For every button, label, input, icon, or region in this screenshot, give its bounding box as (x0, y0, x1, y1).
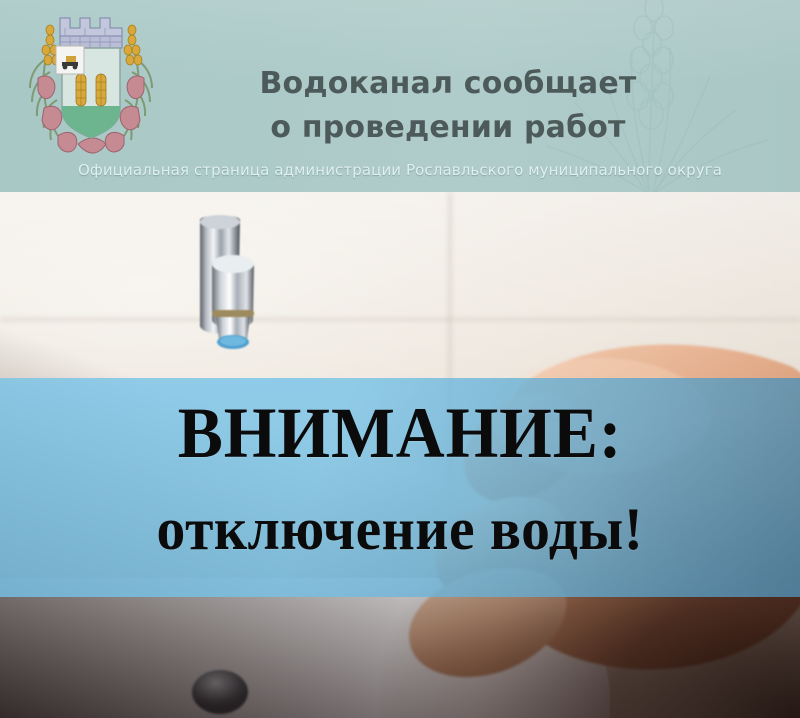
coat-of-arms-icon (14, 6, 168, 172)
page-title-line-2: о проведении работ (168, 106, 728, 150)
alert-headline-line-2: отключение воды! (16, 490, 784, 568)
poster: Водоканал сообщает о проведении работ Оф… (0, 0, 800, 718)
page-subtitle: Официальная страница администрации Росла… (0, 160, 800, 180)
alert-headline-line-1: ВНИМАНИЕ: (24, 390, 776, 476)
alert-headline: ВНИМАНИЕ: отключение воды! (0, 390, 800, 568)
page-title-line-1: Водоканал сообщает (168, 62, 728, 106)
page-header: Водоканал сообщает о проведении работ Оф… (0, 0, 800, 192)
header-title-block: Водоканал сообщает о проведении работ (168, 62, 728, 150)
